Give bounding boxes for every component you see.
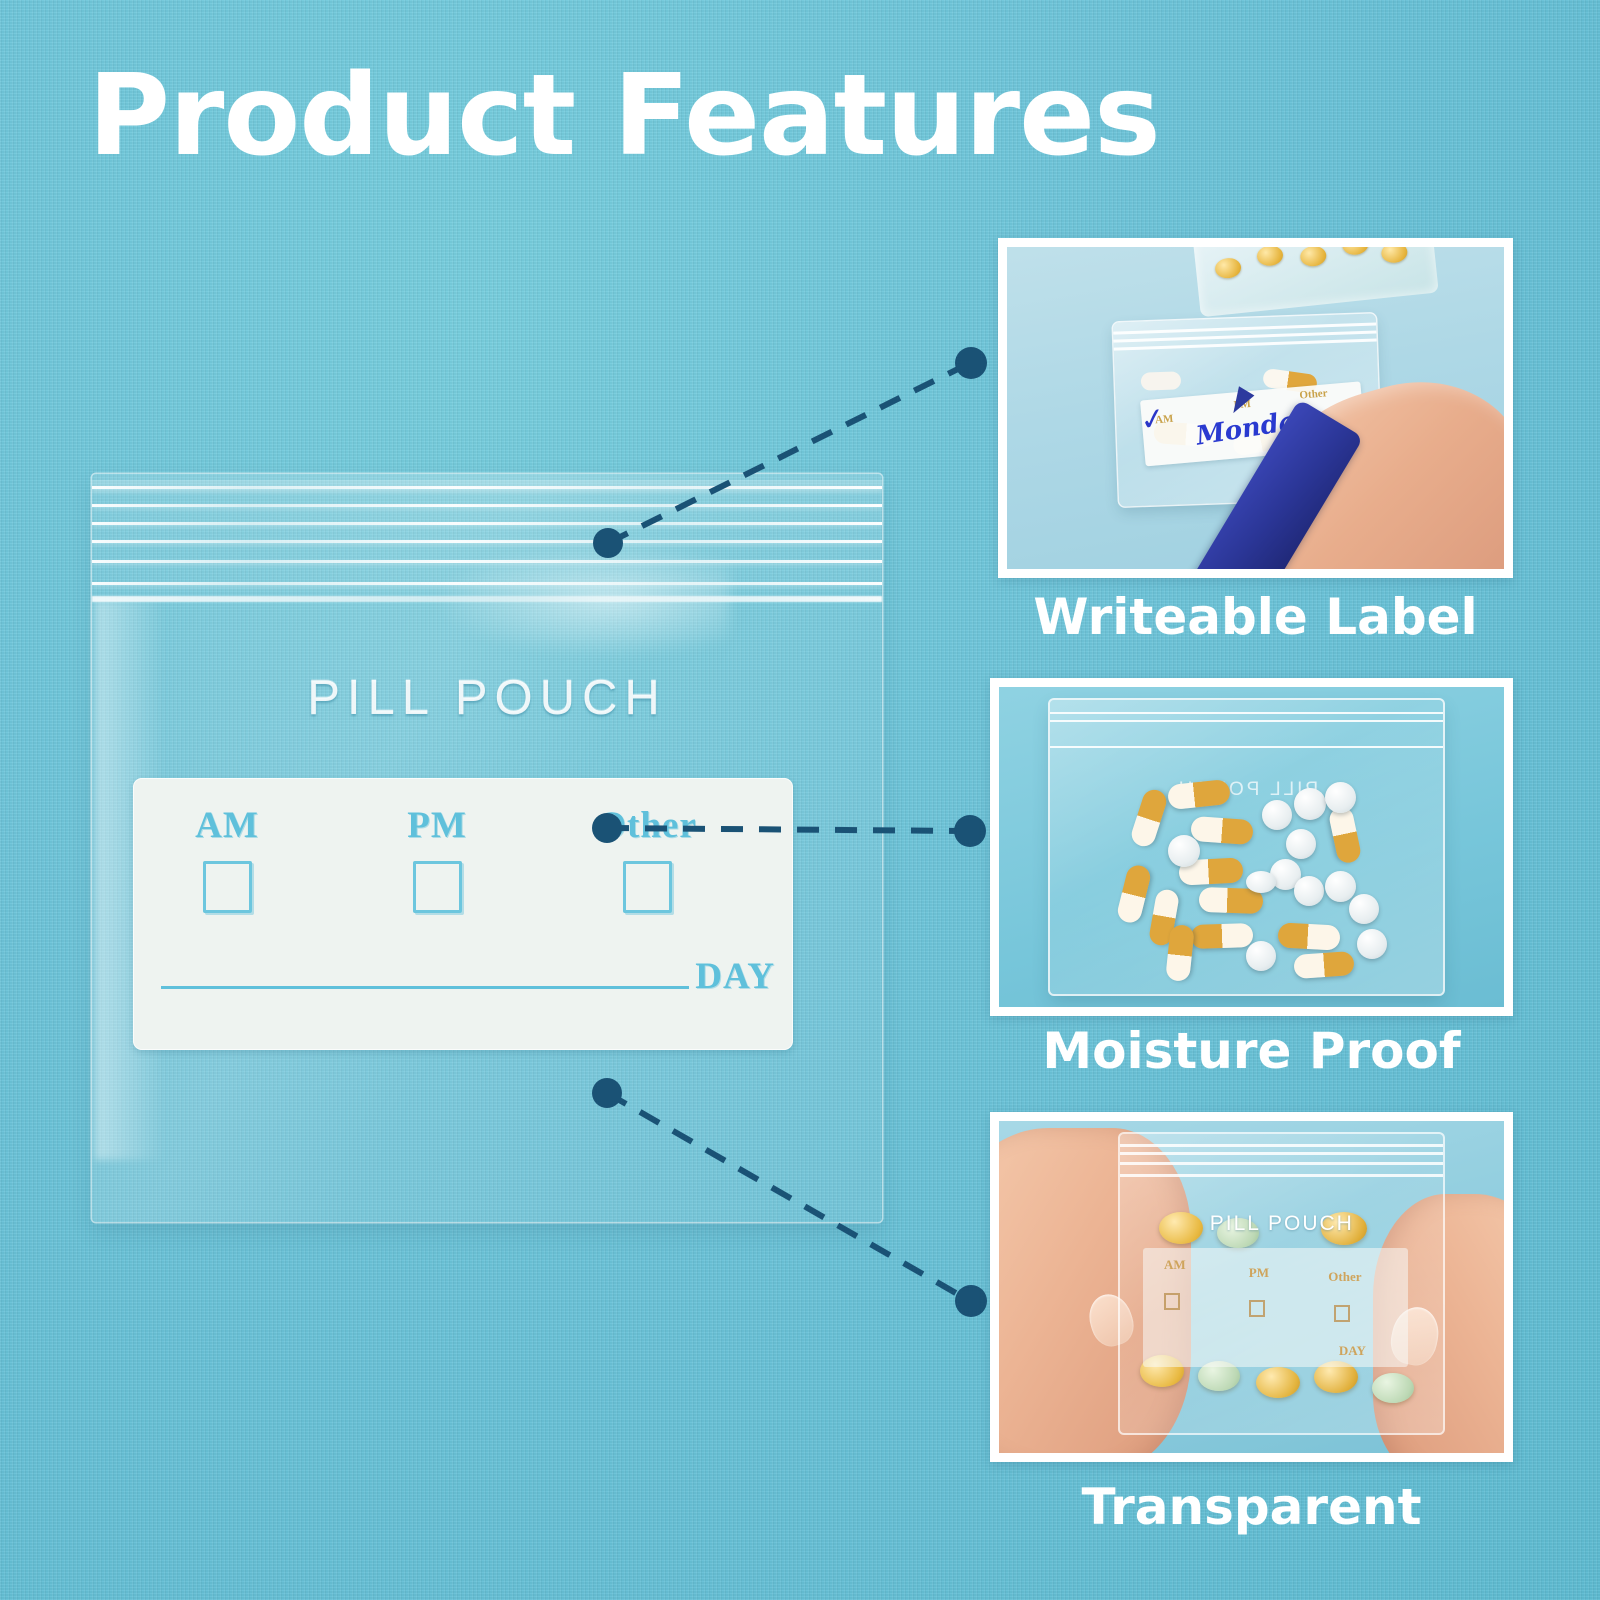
connector-dot-writeable-label (955, 347, 987, 379)
pouch-zipper (92, 478, 882, 596)
held-label-am: AM (1164, 1257, 1186, 1273)
connector-dot-moisture-proof (954, 815, 986, 847)
bag-brand-mirrored: PILL POUCH (1050, 779, 1444, 801)
pouch-zipper-seam (92, 596, 882, 602)
held-label-other: Other (1328, 1269, 1361, 1285)
label-column-other: Other (567, 804, 727, 913)
label-pm-checkbox[interactable] (413, 861, 462, 913)
feature-card-moisture-proof[interactable]: PILL POUCH (990, 678, 1513, 1016)
feature-caption-moisture-proof: Moisture Proof (990, 1022, 1513, 1080)
feature-photo-writeable-label: AM PM Other DAY ✓ Monday (1007, 247, 1504, 569)
label-pm-title: PM (357, 804, 517, 847)
pouch-writeable-label: AM PM Other DAY (133, 778, 793, 1050)
label-day-row: DAY (161, 955, 775, 998)
infographic-canvas: Product Features PILL POUCH AM PM Other … (0, 0, 1600, 1600)
sealed-pill-pouch: PILL POUCH (1050, 700, 1444, 994)
label-am-checkbox[interactable] (203, 861, 252, 913)
connector-dot-transparent (955, 1285, 987, 1317)
bag-label-other: Other (1300, 387, 1329, 401)
label-column-am: AM (147, 804, 307, 913)
feature-caption-transparent: Transparent (990, 1478, 1513, 1536)
held-pill-pouch: PILL POUCH AM PM Other DAY (1120, 1134, 1443, 1433)
label-day-text: DAY (689, 955, 775, 998)
held-bag-brand: PILL POUCH (1120, 1212, 1443, 1236)
held-bag-label: AM PM Other DAY (1143, 1248, 1408, 1368)
feature-caption-writeable-label: Writeable Label (998, 588, 1513, 646)
feature-card-writeable-label[interactable]: AM PM Other DAY ✓ Monday (998, 238, 1513, 578)
held-label-day: DAY (1339, 1343, 1366, 1359)
label-am-title: AM (147, 804, 307, 847)
label-other-title: Other (567, 804, 727, 847)
label-other-checkbox[interactable] (623, 861, 672, 913)
held-label-pm: PM (1249, 1265, 1269, 1281)
label-column-pm: PM (357, 804, 517, 913)
feature-card-transparent[interactable]: PILL POUCH AM PM Other DAY (990, 1112, 1513, 1462)
feature-photo-moisture-proof: PILL POUCH (999, 687, 1504, 1007)
page-title: Product Features (88, 58, 1188, 176)
label-day-write-line[interactable] (161, 986, 689, 989)
feature-photo-transparent: PILL POUCH AM PM Other DAY (999, 1121, 1504, 1453)
pouch-brand-text: PILL POUCH (92, 670, 882, 726)
